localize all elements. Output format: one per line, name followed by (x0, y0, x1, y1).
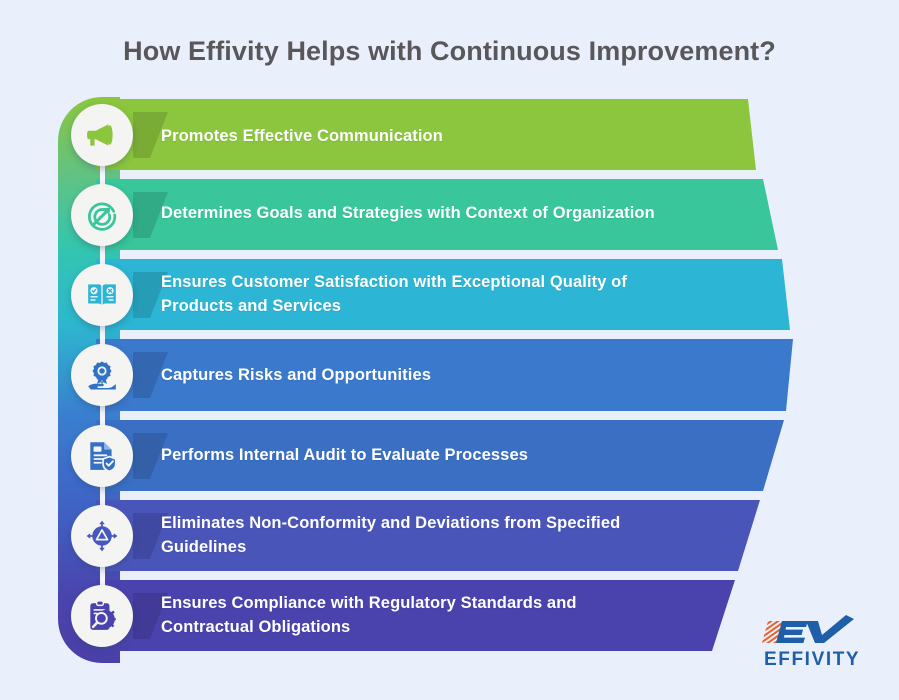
target-arrow-icon[interactable] (71, 184, 133, 246)
megaphone-icon[interactable] (71, 104, 133, 166)
logo-wordmark: EFFIVITY (764, 649, 860, 670)
clipboard-magnifier-gear-icon[interactable] (71, 585, 133, 647)
converging-arrows-warning-icon[interactable] (71, 505, 133, 567)
row-label-4: Captures Risks and Opportunities (161, 363, 431, 387)
row-label-6: Eliminates Non-Conformity and Deviations… (161, 511, 620, 559)
row-label-5: Performs Internal Audit to Evaluate Proc… (161, 443, 528, 467)
open-book-check-icon[interactable] (71, 264, 133, 326)
row-label-1: Promotes Effective Communication (161, 124, 443, 148)
row-label-2: Determines Goals and Strategies with Con… (161, 201, 655, 225)
row-label-3: Ensures Customer Satisfaction with Excep… (161, 270, 627, 318)
effivity-logo[interactable]: EFFIVITY (760, 613, 880, 671)
infographic-root: How Effivity Helps with Continuous Impro… (0, 0, 899, 700)
hand-award-ribbon-icon[interactable] (71, 344, 133, 406)
row-label-7: Ensures Compliance with Regulatory Stand… (161, 591, 577, 639)
document-shield-icon[interactable] (71, 425, 133, 487)
